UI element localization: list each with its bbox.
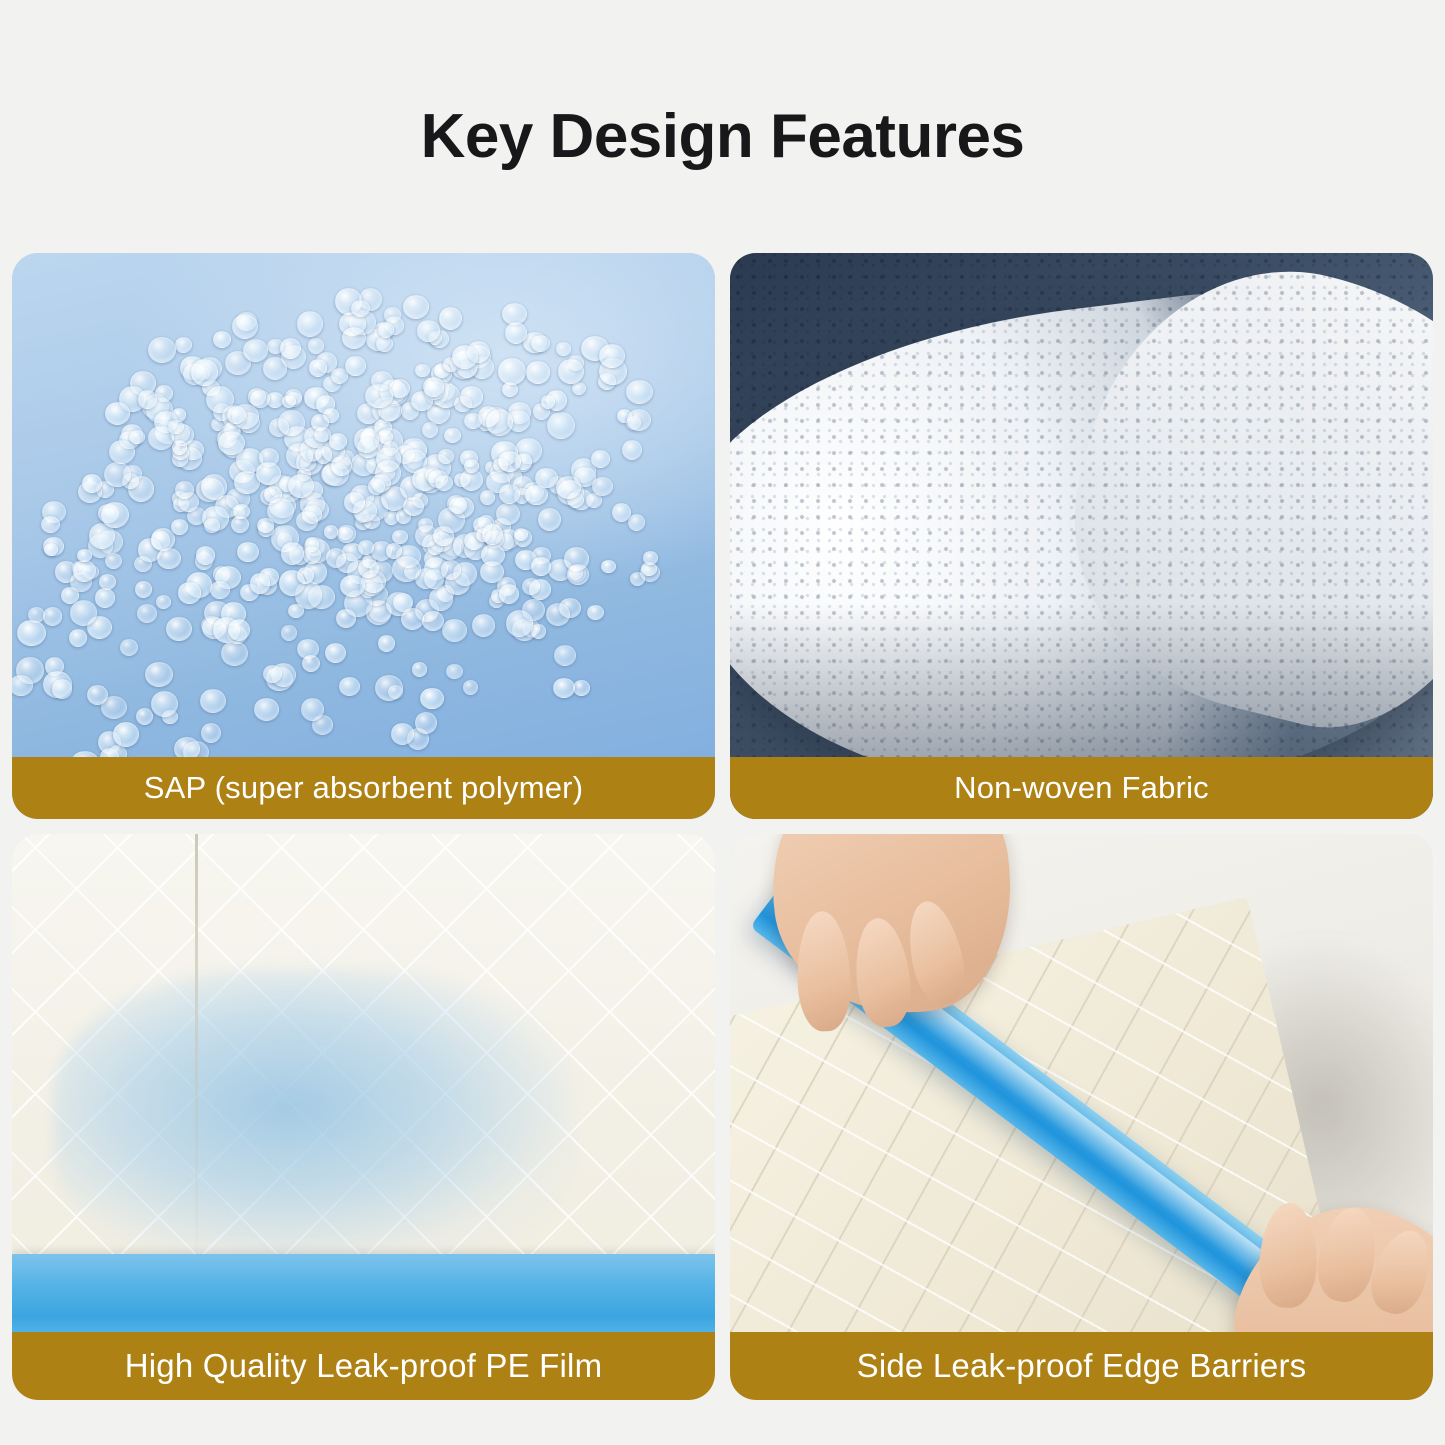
pe-film-photo <box>12 834 715 1400</box>
feature-grid: SAP (super absorbent polymer) Non-woven … <box>12 253 1433 1417</box>
feature-card-edge-barriers: Side Leak-proof Edge Barriers <box>730 834 1433 1400</box>
feature-caption-sap: SAP (super absorbent polymer) <box>12 757 715 819</box>
feature-card-pe-film: High Quality Leak-proof PE Film <box>12 834 715 1400</box>
feature-collage-page: Key Design Features SAP (super absorbent… <box>0 0 1445 1445</box>
feature-caption-pe-film: High Quality Leak-proof PE Film <box>12 1332 715 1400</box>
edge-barriers-photo <box>730 834 1433 1400</box>
feature-caption-edge-barriers: Side Leak-proof Edge Barriers <box>730 1332 1433 1400</box>
page-title: Key Design Features <box>0 104 1445 169</box>
non-woven-fabric-photo <box>730 253 1433 819</box>
sap-beads-photo <box>12 253 715 819</box>
feature-card-non-woven: Non-woven Fabric <box>730 253 1433 819</box>
feature-card-sap: SAP (super absorbent polymer) <box>12 253 715 819</box>
feature-caption-non-woven: Non-woven Fabric <box>730 757 1433 819</box>
